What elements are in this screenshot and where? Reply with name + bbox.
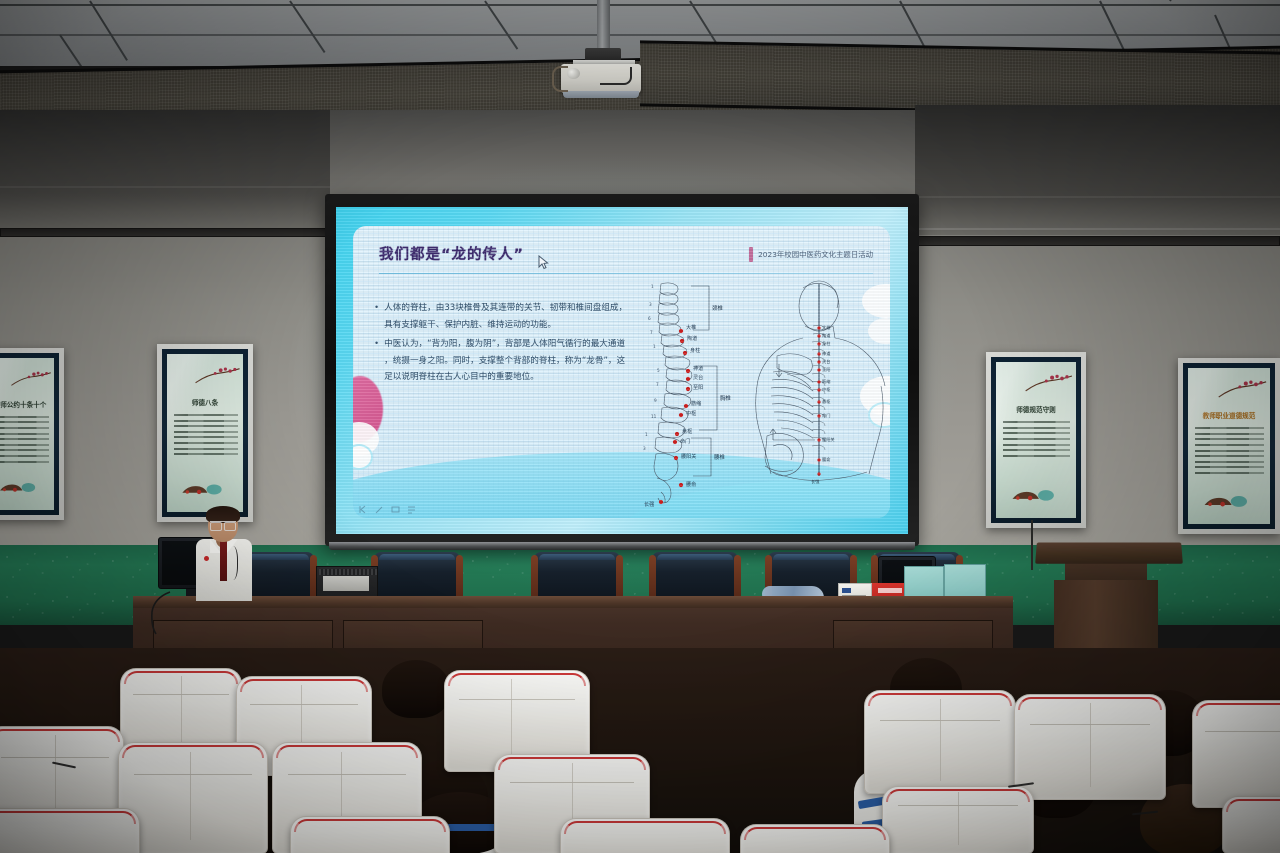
- svg-text:6: 6: [648, 316, 651, 321]
- glasses-icon: [210, 521, 236, 528]
- audience-seat[interactable]: [864, 690, 1016, 794]
- audience-head: [382, 660, 450, 718]
- more-options-icon[interactable]: [407, 505, 416, 514]
- svg-text:11: 11: [651, 414, 657, 419]
- title-divider: [379, 273, 873, 274]
- projector-cable: [552, 66, 568, 92]
- list-item: • 人体的脊柱，由33块椎骨及其连带的关节、韧带和椎间盘组成， 具有支撑躯干、保…: [375, 300, 658, 333]
- list-item: • 中医认为，“背为阳，腹为阴”，背部是人体阳气循行的最大通道 ，统摄一身之阳。…: [375, 336, 658, 386]
- wall-poster: 师德八条: [157, 344, 253, 522]
- bullet-text-2: 中医认为，“背为阳，腹为阴”，背部是人体阳气循行的最大通道 ，统摄一身之阳。同时…: [384, 336, 625, 386]
- wall-seam-right: [915, 196, 1280, 198]
- presenter-badge: [204, 556, 209, 561]
- head-table-top: [133, 596, 1013, 608]
- microphone-wire: [226, 546, 238, 580]
- slide-grid-icon[interactable]: [391, 505, 400, 514]
- svg-text:9: 9: [654, 398, 657, 403]
- acupoint-label: 灵台: [693, 374, 703, 381]
- slide-title: 我们都是“龙的传人”: [379, 243, 524, 264]
- pen-icon[interactable]: [375, 505, 384, 514]
- mouse-pointer-icon: [538, 255, 549, 270]
- vip-chair[interactable]: [652, 552, 738, 602]
- lectern-top: [1035, 543, 1183, 564]
- body-acupoint-label: 大椎: [822, 324, 830, 331]
- gooseneck-microphone: [1031, 520, 1033, 570]
- acupoint-label: 陶道: [687, 335, 697, 342]
- audience-seat[interactable]: [1014, 694, 1166, 800]
- slide-canvas: 我们都是“龙的传人” 2023年校园中医药文化主题日活动 • 人体的: [353, 226, 890, 518]
- header-accent-bar: [749, 247, 753, 262]
- slide-header-label: 2023年校园中医药文化主题日活动: [758, 249, 873, 260]
- svg-text:5: 5: [657, 368, 660, 373]
- cable-bundle: [140, 590, 200, 636]
- audience-seat[interactable]: [290, 816, 450, 853]
- acupoint-label: 身柱: [690, 347, 700, 354]
- audience-seat[interactable]: [1192, 700, 1280, 808]
- audience-seat[interactable]: [1222, 796, 1280, 853]
- svg-text:7: 7: [650, 330, 653, 335]
- body-acupoint-label: 中枢: [822, 386, 831, 393]
- projector-lens-icon: [567, 68, 580, 79]
- body-acupoint-label: 腰俞: [822, 456, 831, 463]
- body-acupoint-label: 腰阳关: [822, 436, 835, 443]
- projection-screen[interactable]: 我们都是“龙的传人” 2023年校园中医药文化主题日活动 • 人体的: [325, 194, 919, 546]
- body-acupoint-label: 命门: [822, 412, 830, 419]
- bullet-text-1: 人体的脊柱，由33块椎骨及其连带的关节、韧带和椎间盘组成， 具有支撑躯干、保护内…: [384, 300, 627, 333]
- body-acupoint-label: 身柱: [822, 340, 831, 347]
- wall-poster: 师德规范守则: [986, 352, 1086, 528]
- wall-poster: 教师公约十条十个: [0, 348, 64, 520]
- audience-seat[interactable]: [0, 808, 140, 853]
- acupoint-label: 腰阳关: [681, 453, 696, 460]
- wall-poster: 教师职业道德规范: [1178, 358, 1280, 534]
- wall-vent-right: [915, 236, 1280, 246]
- acupoint-label: 腰俞: [686, 481, 696, 488]
- svg-text:7: 7: [656, 382, 659, 387]
- svg-text:3: 3: [649, 302, 652, 307]
- spine-anatomy-diagram: 大椎 陶道 身柱 神道 灵台 至阳 筋缩 中枢 悬枢 命门 腰阳关 腰俞 长强: [631, 278, 886, 516]
- slide-bullets: • 人体的脊柱，由33块椎骨及其连带的关节、韧带和椎间盘组成， 具有支撑躯干、保…: [375, 300, 658, 389]
- body-acupoint-label: 神道: [822, 350, 831, 357]
- vertebra-group-label: 胸椎: [720, 394, 731, 402]
- body-acupoint-label: 陶道: [822, 332, 831, 339]
- audience-seat[interactable]: [882, 786, 1034, 853]
- audience-seat[interactable]: [560, 818, 730, 853]
- wall-shadow-right: [915, 105, 1280, 235]
- acupoint-label: 筋缩: [691, 400, 701, 407]
- body-acupoint-label: 悬枢: [822, 398, 831, 405]
- acupoint-label: 神道: [693, 365, 703, 372]
- acupoint-label: 大椎: [686, 324, 696, 331]
- amplifier-unit[interactable]: [316, 566, 378, 599]
- slide-header-right: 2023年校园中医药文化主题日活动: [749, 247, 873, 262]
- vertebra-group-label: 颈椎: [712, 304, 723, 312]
- acupoint-label: 至阳: [693, 384, 703, 391]
- acupoint-label: 长强: [644, 501, 654, 508]
- body-acupoint-label: 至阳: [822, 366, 830, 373]
- svg-text:3: 3: [643, 446, 646, 451]
- vertebra-group-label: 腰椎: [714, 453, 725, 461]
- vip-chair[interactable]: [374, 552, 460, 602]
- svg-text:1: 1: [651, 284, 654, 289]
- projector-cable-2: [600, 67, 632, 85]
- projector-mount-pole: [597, 0, 610, 52]
- wall-shadow-left: [0, 110, 330, 230]
- acupoint-label: 命门: [680, 438, 690, 445]
- audience-seat[interactable]: [118, 742, 268, 853]
- acupoint-label: 悬枢: [682, 428, 692, 435]
- ppt-toolbar[interactable]: [359, 505, 416, 514]
- previous-slide-icon[interactable]: [359, 505, 368, 514]
- wall-vent-left: [0, 228, 330, 237]
- body-acupoint-label: 筋缩: [822, 378, 830, 385]
- body-acupoint-label: 长强: [811, 478, 820, 485]
- wall-seam-left: [0, 186, 330, 188]
- audience-seat[interactable]: [740, 824, 890, 853]
- screen-surface: 我们都是“龙的传人” 2023年校园中医药文化主题日活动 • 人体的: [336, 207, 908, 534]
- body-acupoint-label: 灵台: [822, 358, 830, 365]
- bullet-marker: •: [375, 300, 378, 333]
- lecture-hall-scene: 我们都是“龙的传人” 2023年校园中医药文化主题日活动 • 人体的: [0, 0, 1280, 853]
- uniform-stripe: [444, 824, 500, 831]
- svg-text:1: 1: [645, 432, 648, 437]
- acupoint-label: 中枢: [686, 410, 696, 417]
- svg-text:1: 1: [653, 344, 656, 349]
- bullet-marker: •: [375, 336, 378, 386]
- vip-chair[interactable]: [534, 552, 620, 602]
